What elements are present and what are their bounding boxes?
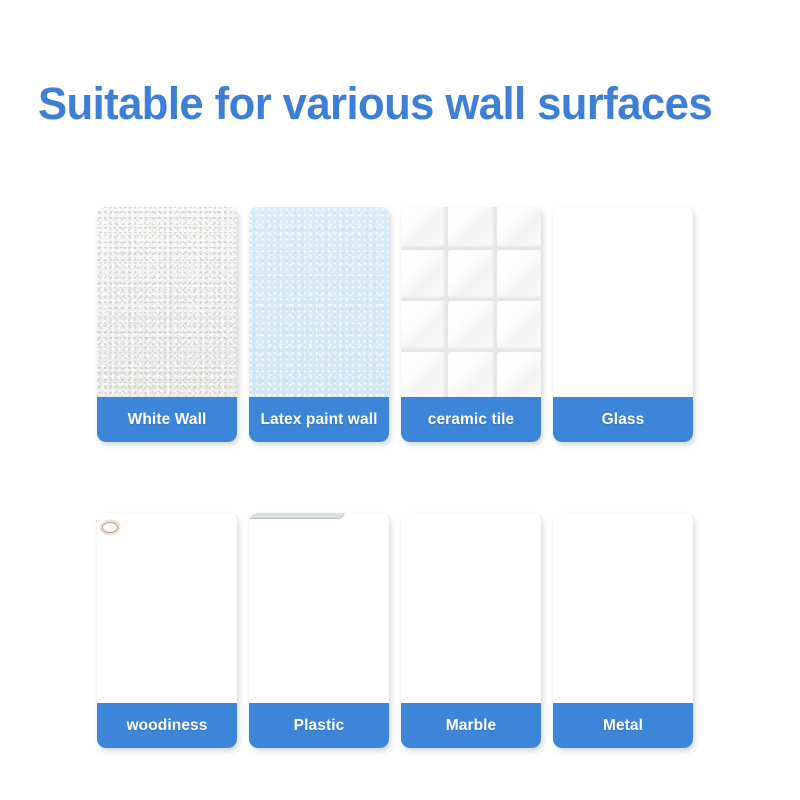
tile	[448, 301, 495, 349]
surface-card-marble[interactable]: Marble	[401, 513, 541, 748]
tile	[401, 352, 445, 400]
tile	[448, 250, 495, 298]
tile	[401, 207, 445, 247]
surface-card-label: Marble	[401, 703, 541, 748]
tile	[497, 207, 541, 247]
tile	[497, 301, 541, 349]
tile	[497, 352, 541, 400]
tile	[448, 352, 495, 400]
wood-knot	[102, 522, 118, 533]
surface-card-label: Metal	[553, 703, 693, 748]
surface-card-label: Plastic	[249, 703, 389, 748]
surface-card-label: woodiness	[97, 703, 237, 748]
surface-card-glass[interactable]: Glass	[553, 207, 693, 442]
surface-card-plastic[interactable]: Plastic	[249, 513, 389, 748]
surface-card-woodiness[interactable]: woodiness	[97, 513, 237, 748]
surface-card-white-wall[interactable]: White Wall	[97, 207, 237, 442]
surface-card-row: woodiness Plastic Marble Metal	[97, 513, 705, 748]
surface-card-metal[interactable]: Metal	[553, 513, 693, 748]
surface-card-grid: White Wall Latex paint wall	[97, 207, 705, 748]
surface-card-label: White Wall	[97, 397, 237, 442]
surface-card-ceramic-tile[interactable]: ceramic tile	[401, 207, 541, 442]
tile	[401, 250, 445, 298]
surface-card-label: Latex paint wall	[249, 397, 389, 442]
page-title: Suitable for various wall surfaces	[38, 78, 746, 130]
tile	[497, 250, 541, 298]
plastic-recessed-panel	[249, 513, 345, 519]
promo-page: Suitable for various wall surfaces White…	[0, 0, 800, 800]
surface-card-label: ceramic tile	[401, 397, 541, 442]
tile	[448, 207, 495, 247]
tile	[401, 301, 445, 349]
surface-card-row: White Wall Latex paint wall	[97, 207, 705, 442]
surface-card-label: Glass	[553, 397, 693, 442]
surface-card-latex-paint-wall[interactable]: Latex paint wall	[249, 207, 389, 442]
